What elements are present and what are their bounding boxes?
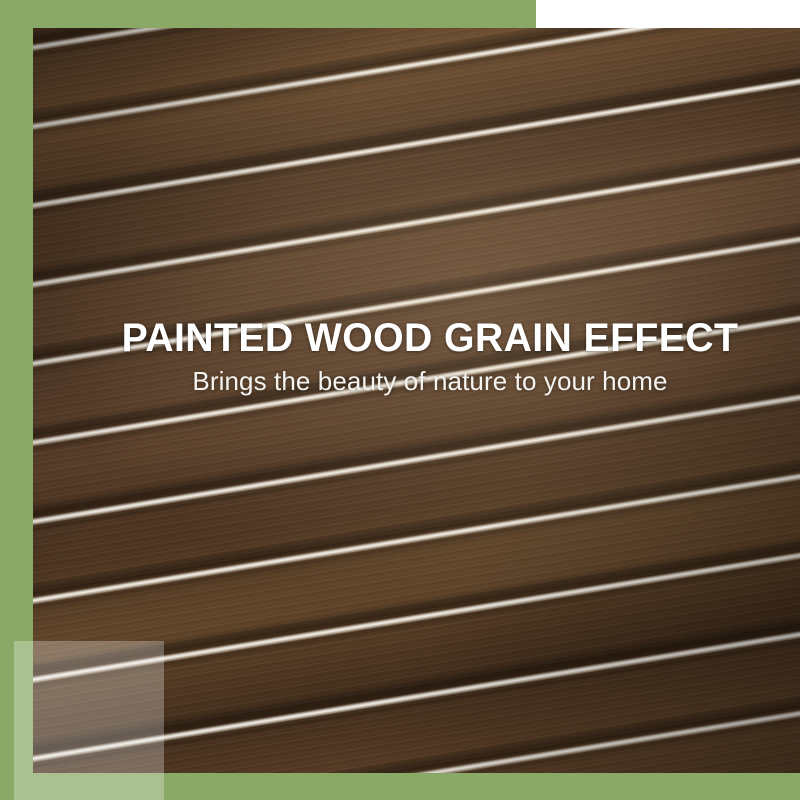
headline-block: PAINTED WOOD GRAIN EFFECT Brings the bea… <box>0 316 800 396</box>
page-title: PAINTED WOOD GRAIN EFFECT <box>67 316 792 360</box>
page-subtitle: Brings the beauty of nature to your home <box>60 366 800 396</box>
translucent-accent-rectangle <box>14 641 164 800</box>
green-frame-top-bar <box>0 0 536 28</box>
promo-banner: PAINTED WOOD GRAIN EFFECT Brings the bea… <box>0 0 800 800</box>
